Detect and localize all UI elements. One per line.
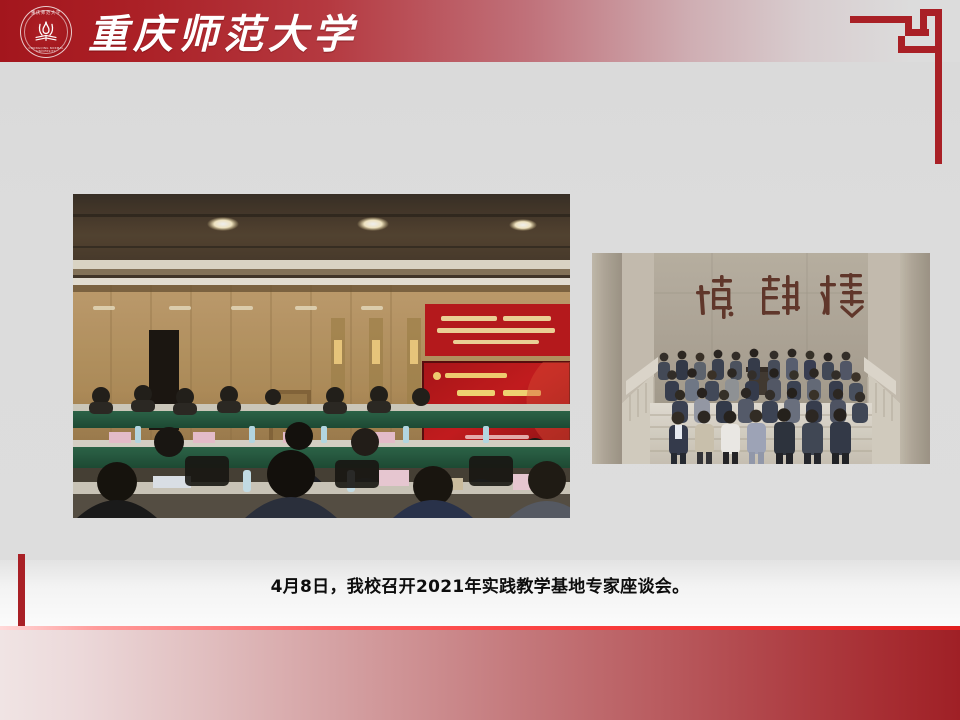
seal-emblem-icon	[31, 17, 61, 45]
slide-caption: 4月8日，我校召开2021年实践教学基地专家座谈会。	[0, 572, 960, 597]
slide-header: 重庆师范大学 CHONGQING NORMAL UNIVERSITY	[0, 0, 960, 62]
university-seal-logo: 重庆师范大学 CHONGQING NORMAL UNIVERSITY	[20, 6, 72, 58]
slide-footer-hairline	[0, 626, 960, 630]
presentation-slide: 重庆师范大学 CHONGQING NORMAL UNIVERSITY	[0, 0, 960, 720]
photo-group-boya-building-image	[592, 253, 930, 464]
slide-footer-band	[0, 626, 960, 720]
seal-english-text: CHONGQING NORMAL UNIVERSITY	[22, 47, 70, 53]
photo-conference-meeting-image	[73, 194, 570, 518]
photo-group-boya-building	[592, 253, 930, 464]
seal-chinese-text: 重庆师范大学	[21, 12, 71, 16]
university-name-title: 重庆师范大学	[88, 3, 358, 59]
photo-conference-meeting	[73, 194, 570, 518]
